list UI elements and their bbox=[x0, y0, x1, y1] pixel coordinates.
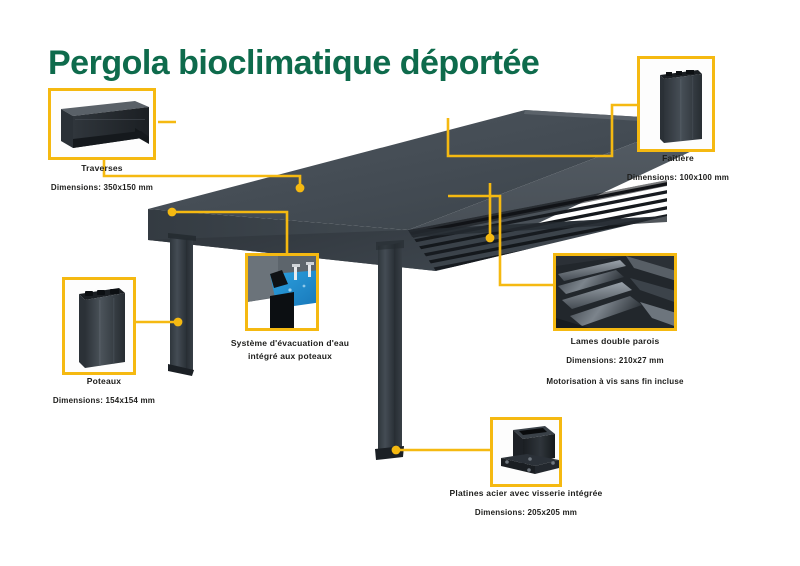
infographic-canvas: Pergola bioclimatique déportée bbox=[0, 0, 800, 566]
base-plate-icon bbox=[493, 420, 559, 484]
label-lames-extra: Motorisation à vis sans fin incluse bbox=[533, 375, 697, 389]
label-platines-dimension: Dimensions: 205x205 mm bbox=[420, 507, 632, 519]
label-lames: Lames double parois Dimensions: 210x27 m… bbox=[533, 335, 697, 388]
label-evacuation-title: Système d'évacuation d'eau bbox=[208, 337, 372, 350]
label-platines-title: Platines acier avec visserie intégrée bbox=[420, 487, 632, 500]
label-poteaux: Poteaux Dimensions: 154x154 mm bbox=[34, 375, 174, 408]
label-traverses-dimension: Dimensions: 350x150 mm bbox=[24, 182, 180, 194]
callout-lames[interactable] bbox=[553, 253, 677, 331]
label-faitiere: Faîtière Dimensions: 100x100 mm bbox=[608, 152, 748, 185]
label-faitiere-dimension: Dimensions: 100x100 mm bbox=[608, 172, 748, 184]
callout-platines[interactable] bbox=[490, 417, 562, 487]
beam-profile-icon bbox=[51, 91, 153, 157]
louvre-blades-icon bbox=[556, 256, 674, 328]
label-faitiere-title: Faîtière bbox=[608, 152, 748, 165]
post-profile-icon bbox=[65, 280, 133, 372]
label-traverses-title: Traverses bbox=[24, 162, 180, 175]
post-rear-right bbox=[375, 242, 404, 460]
label-lames-dimension: Dimensions: 210x27 mm bbox=[533, 355, 697, 367]
callout-poteaux[interactable] bbox=[62, 277, 136, 375]
page-title: Pergola bioclimatique déportée bbox=[48, 44, 539, 83]
label-traverses: Traverses Dimensions: 350x150 mm bbox=[24, 162, 180, 195]
label-poteaux-title: Poteaux bbox=[34, 375, 174, 388]
post-front-left bbox=[168, 236, 194, 376]
ridge-post-profile-icon bbox=[640, 59, 712, 149]
label-evacuation: Système d'évacuation d'eau intégré aux p… bbox=[208, 337, 372, 363]
callout-evacuation[interactable] bbox=[245, 253, 319, 331]
callout-traverses[interactable] bbox=[48, 88, 156, 160]
label-evacuation-subtitle: intégré aux poteaux bbox=[208, 350, 372, 363]
water-drainage-icon bbox=[248, 256, 316, 328]
callout-faitiere[interactable] bbox=[637, 56, 715, 152]
label-lames-title: Lames double parois bbox=[533, 335, 697, 348]
label-platines: Platines acier avec visserie intégrée Di… bbox=[420, 487, 632, 520]
label-poteaux-dimension: Dimensions: 154x154 mm bbox=[34, 395, 174, 407]
